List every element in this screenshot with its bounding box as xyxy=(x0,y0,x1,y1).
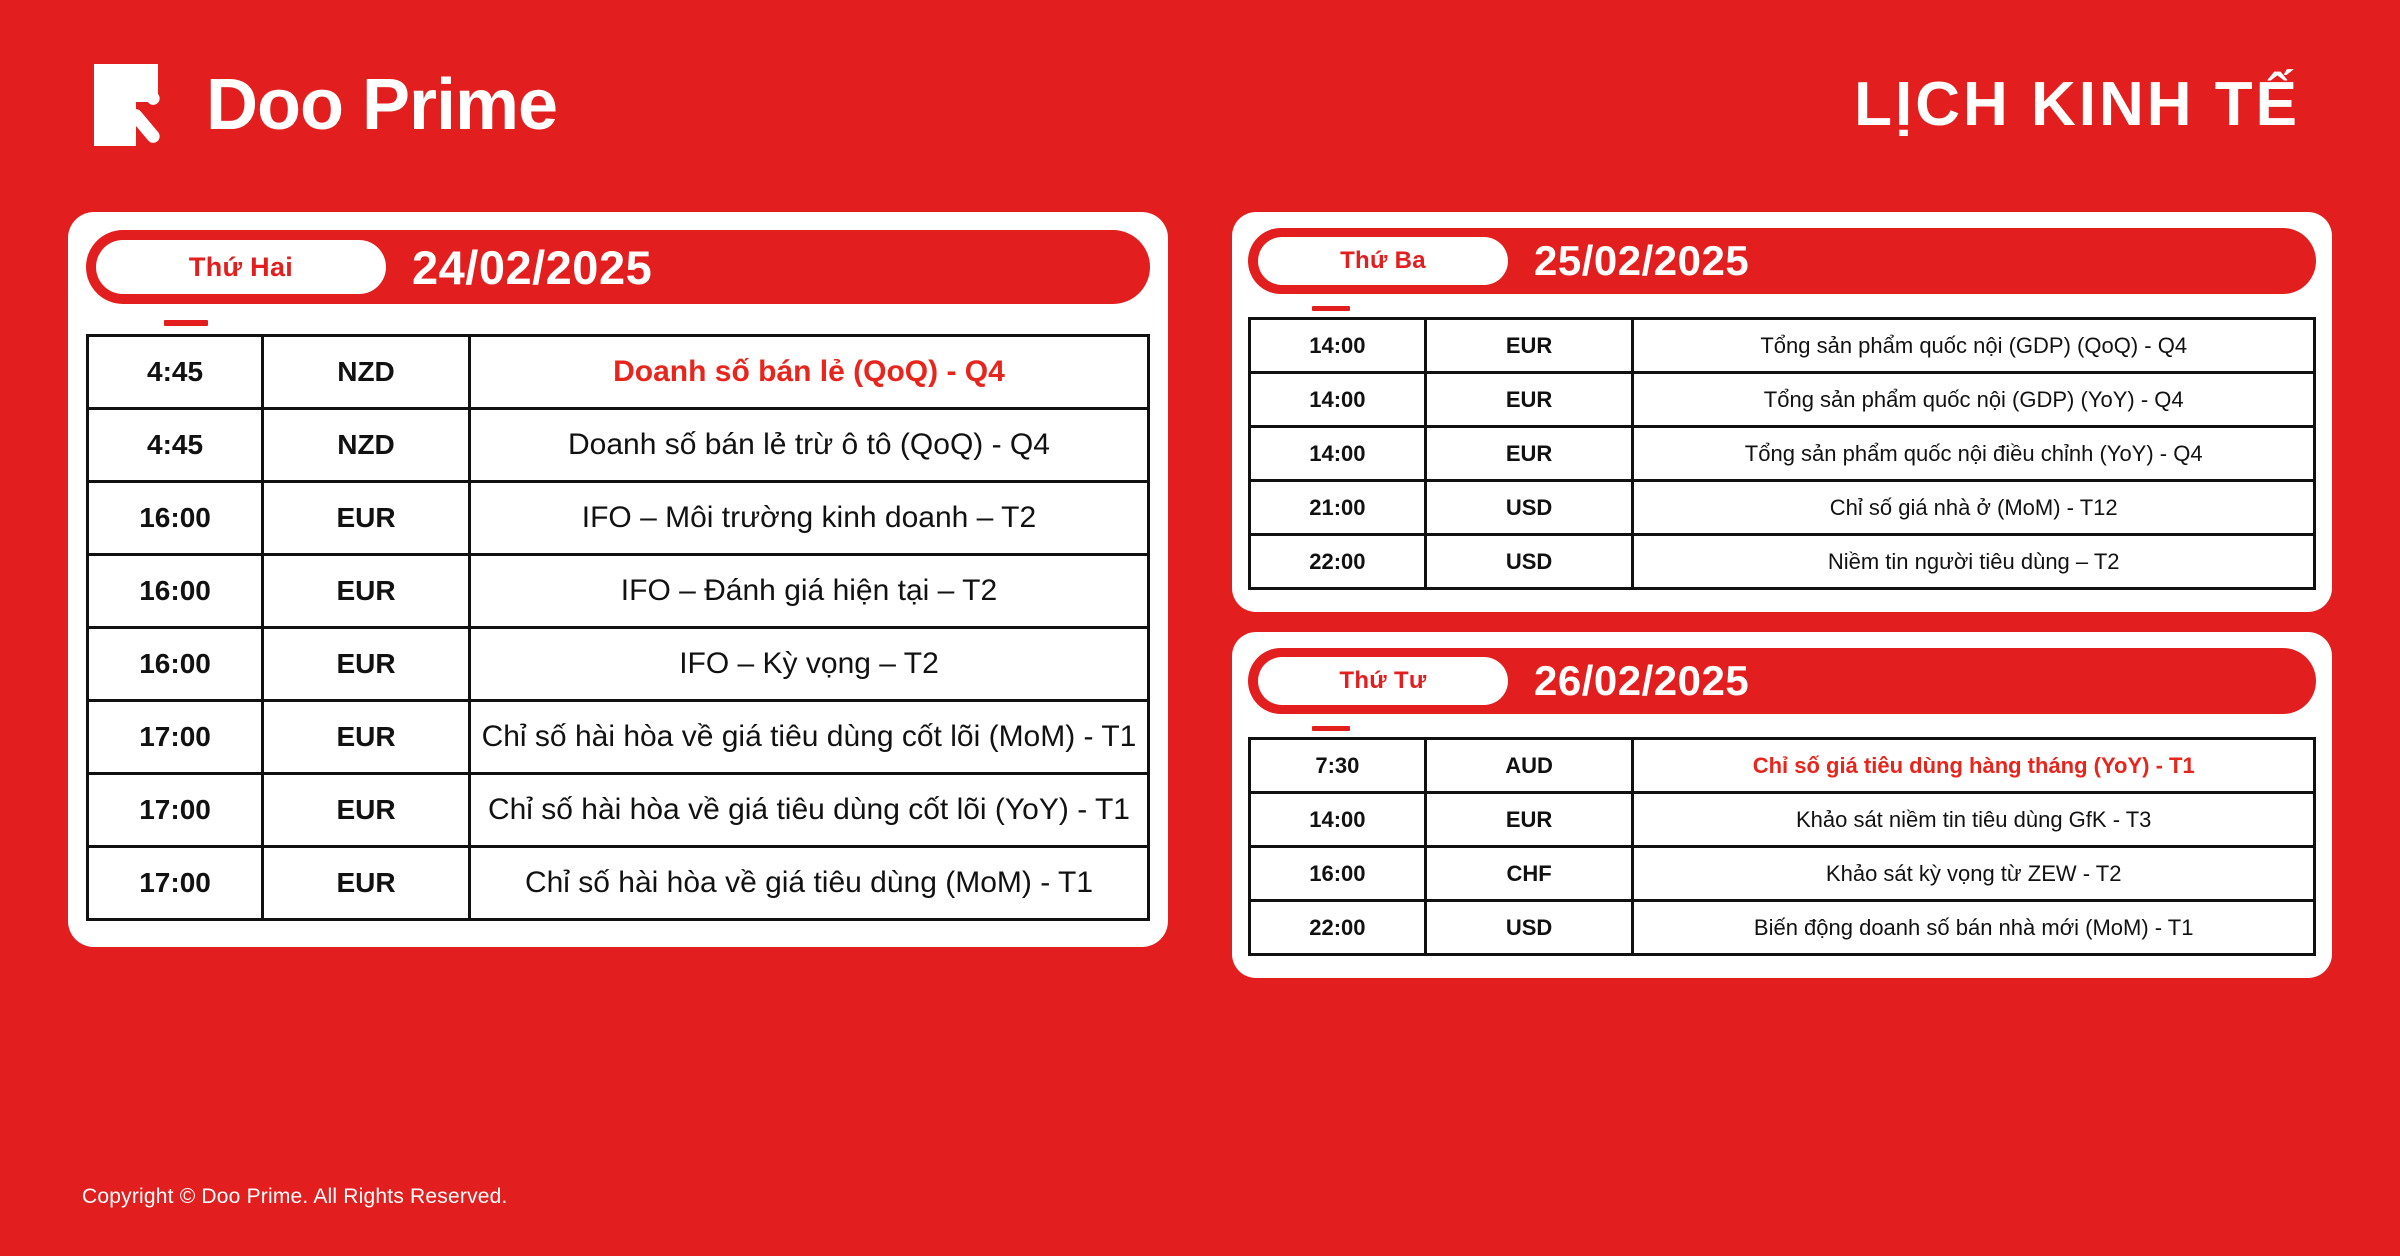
cell-event: Khảo sát kỳ vọng từ ZEW - T2 xyxy=(1633,847,2315,901)
events-table-tue: 14:00 EUR Tổng sản phẩm quốc nội (GDP) (… xyxy=(1248,317,2316,590)
day-card-header: Thứ Tư 26/02/2025 xyxy=(1248,648,2316,714)
page-title: LỊCH KINH TẾ xyxy=(1854,74,2300,136)
cell-currency: NZD xyxy=(263,409,470,482)
table-row: 16:00 EUR IFO – Môi trường kinh doanh – … xyxy=(88,482,1149,555)
table-row: 14:00 EUR Tổng sản phẩm quốc nội (GDP) (… xyxy=(1250,319,2315,373)
calendar-column-right: Thứ Ba 25/02/2025 14:00 EUR Tổng sản phẩ… xyxy=(1232,212,2332,1172)
cell-event: Doanh số bán lẻ (QoQ) - Q4 xyxy=(469,336,1148,409)
table-row: 4:45 NZD Doanh số bán lẻ trừ ô tô (QoQ) … xyxy=(88,409,1149,482)
cell-event: Tổng sản phẩm quốc nội (GDP) (YoY) - Q4 xyxy=(1633,373,2315,427)
header-accent-dash xyxy=(1312,306,1350,311)
cell-event: Niềm tin người tiêu dùng – T2 xyxy=(1633,535,2315,589)
cell-event: IFO – Đánh giá hiện tại – T2 xyxy=(469,555,1148,628)
cell-currency: EUR xyxy=(1425,373,1633,427)
table-row: 17:00 EUR Chỉ số hài hòa về giá tiêu dùn… xyxy=(88,701,1149,774)
cell-time: 4:45 xyxy=(88,336,263,409)
cell-event: Chỉ số hài hòa về giá tiêu dùng cốt lõi … xyxy=(469,701,1148,774)
cell-time: 22:00 xyxy=(1250,901,1426,955)
cell-time: 7:30 xyxy=(1250,739,1426,793)
cell-currency: EUR xyxy=(263,482,470,555)
day-name-label: Thứ Tư xyxy=(1339,667,1426,695)
cell-time: 16:00 xyxy=(1250,847,1426,901)
cell-currency: EUR xyxy=(263,847,470,920)
events-table-mon: 4:45 NZD Doanh số bán lẻ (QoQ) - Q4 4:45… xyxy=(86,334,1150,921)
table-row: 14:00 EUR Khảo sát niềm tin tiêu dùng Gf… xyxy=(1250,793,2315,847)
cell-event: Tổng sản phẩm quốc nội (GDP) (QoQ) - Q4 xyxy=(1633,319,2315,373)
table-row: 17:00 EUR Chỉ số hài hòa về giá tiêu dùn… xyxy=(88,847,1149,920)
cell-event: Tổng sản phẩm quốc nội điều chỉnh (YoY) … xyxy=(1633,427,2315,481)
cell-time: 14:00 xyxy=(1250,793,1426,847)
day-card-header: Thứ Ba 25/02/2025 xyxy=(1248,228,2316,294)
cell-time: 21:00 xyxy=(1250,481,1426,535)
day-name-pill: Thứ Ba xyxy=(1258,237,1508,285)
cell-currency: EUR xyxy=(263,701,470,774)
cell-event: Doanh số bán lẻ trừ ô tô (QoQ) - Q4 xyxy=(469,409,1148,482)
brand-lockup: Doo Prime xyxy=(92,62,557,148)
day-card-tue: Thứ Ba 25/02/2025 14:00 EUR Tổng sản phẩ… xyxy=(1232,212,2332,612)
cell-time: 16:00 xyxy=(88,482,263,555)
cell-currency: EUR xyxy=(263,774,470,847)
cell-currency: CHF xyxy=(1425,847,1633,901)
cell-time: 17:00 xyxy=(88,847,263,920)
table-row: 22:00 USD Niềm tin người tiêu dùng – T2 xyxy=(1250,535,2315,589)
table-row: 22:00 USD Biến động doanh số bán nhà mới… xyxy=(1250,901,2315,955)
cell-event: Chỉ số hài hòa về giá tiêu dùng cốt lõi … xyxy=(469,774,1148,847)
day-name-label: Thứ Ba xyxy=(1340,247,1426,275)
cell-time: 14:00 xyxy=(1250,427,1426,481)
table-row: 16:00 EUR IFO – Đánh giá hiện tại – T2 xyxy=(88,555,1149,628)
cell-currency: EUR xyxy=(263,628,470,701)
cell-event: Chỉ số giá tiêu dùng hàng tháng (YoY) - … xyxy=(1633,739,2315,793)
table-row: 21:00 USD Chỉ số giá nhà ở (MoM) - T12 xyxy=(1250,481,2315,535)
cell-time: 16:00 xyxy=(88,555,263,628)
doo-prime-logo-mark-icon xyxy=(92,62,178,148)
day-date-label: 25/02/2025 xyxy=(1534,240,1749,282)
header-accent-dash xyxy=(1312,726,1350,731)
cell-time: 14:00 xyxy=(1250,319,1426,373)
events-table-wed: 7:30 AUD Chỉ số giá tiêu dùng hàng tháng… xyxy=(1248,737,2316,956)
copyright-text: Copyright © Doo Prime. All Rights Reserv… xyxy=(82,1185,508,1209)
table-row: 17:00 EUR Chỉ số hài hòa về giá tiêu dùn… xyxy=(88,774,1149,847)
table-row: 14:00 EUR Tổng sản phẩm quốc nội điều ch… xyxy=(1250,427,2315,481)
table-row: 7:30 AUD Chỉ số giá tiêu dùng hàng tháng… xyxy=(1250,739,2315,793)
table-row: 14:00 EUR Tổng sản phẩm quốc nội (GDP) (… xyxy=(1250,373,2315,427)
cell-currency: EUR xyxy=(1425,427,1633,481)
cell-currency: EUR xyxy=(1425,319,1633,373)
cell-event: Khảo sát niềm tin tiêu dùng GfK - T3 xyxy=(1633,793,2315,847)
page-header: Doo Prime LỊCH KINH TẾ xyxy=(0,0,2400,210)
brand-name: Doo Prime xyxy=(206,69,557,141)
cell-time: 17:00 xyxy=(88,701,263,774)
cell-event: Biến động doanh số bán nhà mới (MoM) - T… xyxy=(1633,901,2315,955)
cell-event: Chỉ số hài hòa về giá tiêu dùng (MoM) - … xyxy=(469,847,1148,920)
calendar-columns: Thứ Hai 24/02/2025 4:45 NZD Doanh số bán… xyxy=(0,212,2400,1172)
table-row: 4:45 NZD Doanh số bán lẻ (QoQ) - Q4 xyxy=(88,336,1149,409)
cell-time: 17:00 xyxy=(88,774,263,847)
day-card-header: Thứ Hai 24/02/2025 xyxy=(86,230,1150,304)
day-card-mon: Thứ Hai 24/02/2025 4:45 NZD Doanh số bán… xyxy=(68,212,1168,947)
cell-currency: NZD xyxy=(263,336,470,409)
cell-currency: USD xyxy=(1425,901,1633,955)
cell-time: 16:00 xyxy=(88,628,263,701)
calendar-column-left: Thứ Hai 24/02/2025 4:45 NZD Doanh số bán… xyxy=(68,212,1168,1172)
cell-currency: USD xyxy=(1425,535,1633,589)
day-name-pill: Thứ Hai xyxy=(96,240,386,294)
cell-currency: USD xyxy=(1425,481,1633,535)
day-date-label: 26/02/2025 xyxy=(1534,660,1749,702)
table-row: 16:00 CHF Khảo sát kỳ vọng từ ZEW - T2 xyxy=(1250,847,2315,901)
cell-time: 14:00 xyxy=(1250,373,1426,427)
cell-event: IFO – Kỳ vọng – T2 xyxy=(469,628,1148,701)
day-date-label: 24/02/2025 xyxy=(412,244,652,291)
cell-event: IFO – Môi trường kinh doanh – T2 xyxy=(469,482,1148,555)
cell-currency: AUD xyxy=(1425,739,1633,793)
header-accent-dash xyxy=(164,320,208,326)
cell-time: 22:00 xyxy=(1250,535,1426,589)
cell-event: Chỉ số giá nhà ở (MoM) - T12 xyxy=(1633,481,2315,535)
cell-time: 4:45 xyxy=(88,409,263,482)
cell-currency: EUR xyxy=(1425,793,1633,847)
table-row: 16:00 EUR IFO – Kỳ vọng – T2 xyxy=(88,628,1149,701)
day-card-wed: Thứ Tư 26/02/2025 7:30 AUD Chỉ số giá ti… xyxy=(1232,632,2332,978)
cell-currency: EUR xyxy=(263,555,470,628)
day-name-label: Thứ Hai xyxy=(189,252,293,283)
day-name-pill: Thứ Tư xyxy=(1258,657,1508,705)
